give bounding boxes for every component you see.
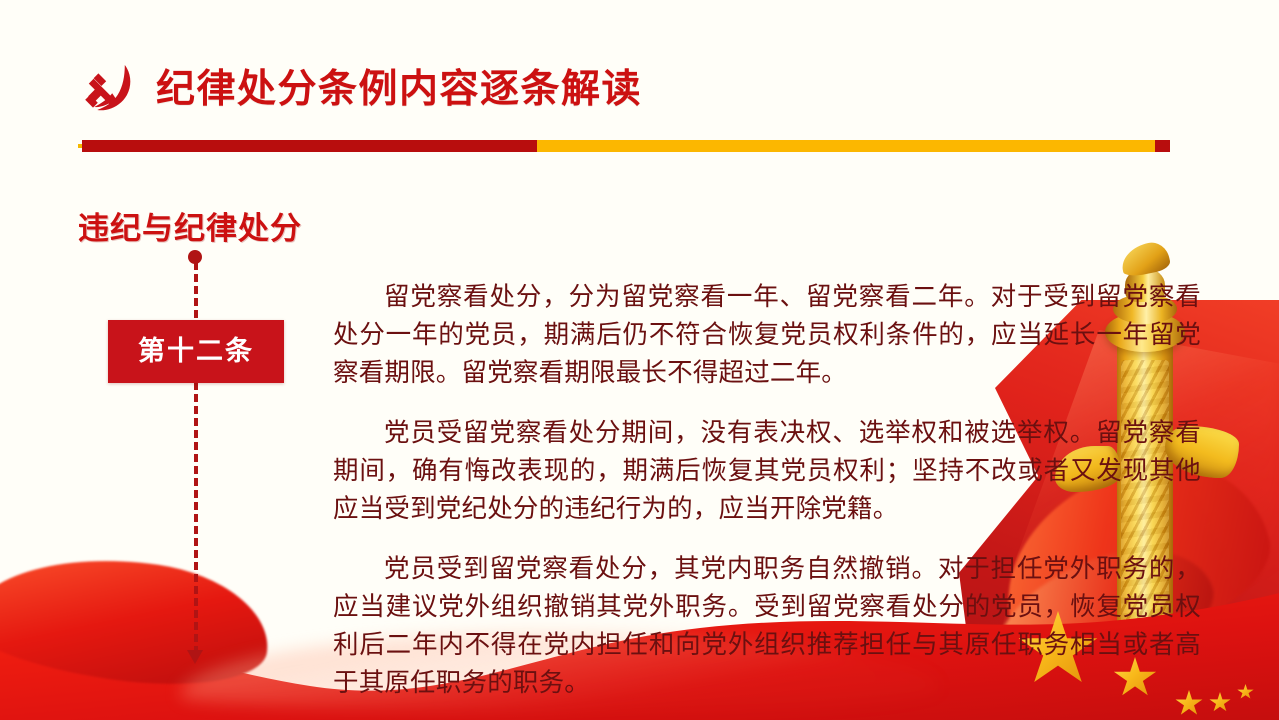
clause-badge[interactable]: 第十二条	[108, 320, 284, 383]
clause-body-text: 留党察看处分，分为留党察看一年、留党察看二年。对于受到留党察看处分一年的党员，期…	[333, 278, 1201, 702]
gold-star-xsmall-icon	[1209, 692, 1231, 713]
clause-paragraph: 留党察看处分，分为留党察看一年、留党察看二年。对于受到留党察看处分一年的党员，期…	[333, 278, 1201, 392]
page-title: 纪律处分条例内容逐条解读	[156, 70, 642, 109]
divider-segment-red-end	[1155, 140, 1170, 152]
pillar-beast-figure	[1118, 239, 1171, 278]
clause-badge-label: 第十二条	[138, 338, 254, 365]
slide-header: 纪律处分条例内容逐条解读	[78, 58, 642, 120]
clause-paragraph: 党员受到留党察看处分，其党内职务自然撤销。对于担任党外职务的，应当建议党外组织撤…	[333, 550, 1201, 702]
divider-segment-yellow	[537, 140, 1155, 152]
divider-segment-red	[82, 140, 537, 152]
header-divider	[78, 140, 1170, 152]
gold-star-tiny-icon	[1237, 684, 1254, 700]
slide-canvas: 纪律处分条例内容逐条解读 违纪与纪律处分 第十二条 留党察看处分，分为留党察看一…	[0, 0, 1279, 720]
section-heading: 违纪与纪律处分	[78, 203, 302, 248]
cpc-party-emblem-icon	[78, 58, 138, 120]
arrow-down-icon	[187, 650, 203, 664]
clause-paragraph: 党员受留党察看处分期间，没有表决权、选举权和被选举权。留党察看期间，确有悔改表现…	[333, 414, 1201, 528]
red-silk-ribbon-left-curl	[0, 540, 277, 701]
